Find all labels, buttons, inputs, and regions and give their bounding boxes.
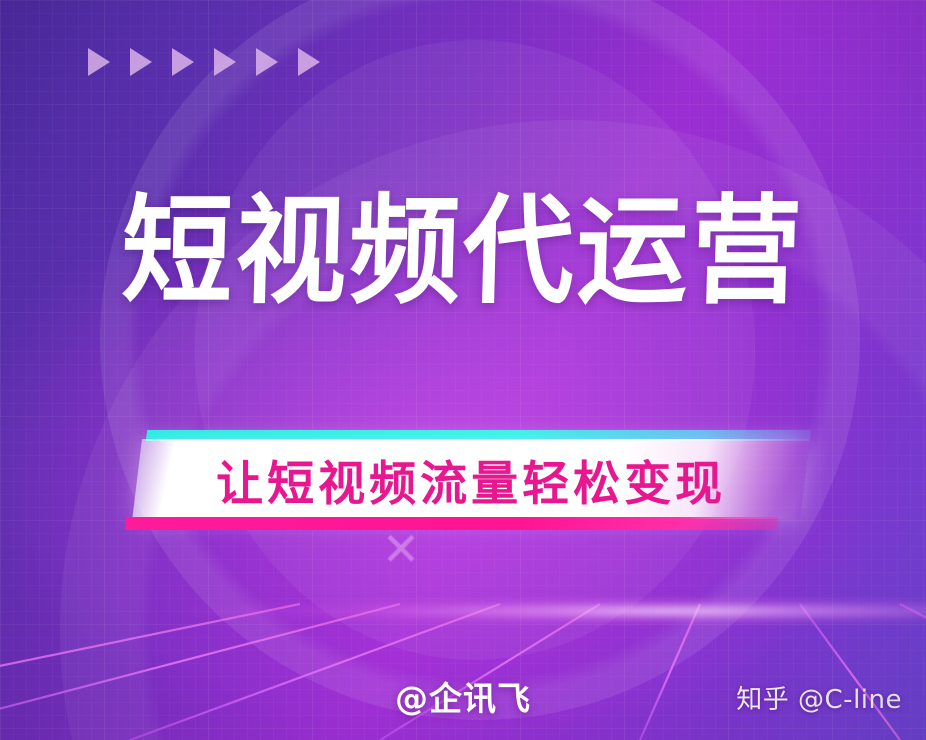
poster-canvas: 短视频代运营 让短视频流量轻松变现 ✕ xyxy=(0,0,926,740)
play-arrow-icon xyxy=(172,48,194,76)
vignette-overlay xyxy=(0,0,926,740)
inner-ellipse-decoration xyxy=(195,40,755,660)
play-arrow-icon xyxy=(298,48,320,76)
main-title: 短视频代运营 xyxy=(26,192,899,310)
zhihu-watermark: 知乎 @C-line xyxy=(736,679,902,716)
x-decoration-icon: ✕ xyxy=(380,528,422,570)
subtitle-banner: 让短视频流量轻松变现 xyxy=(131,430,815,530)
play-arrow-icon xyxy=(130,48,152,76)
outer-circle-decoration xyxy=(100,0,860,720)
horizon-glow xyxy=(185,598,926,624)
play-arrow-icon xyxy=(214,48,236,76)
play-arrow-icon xyxy=(88,48,110,76)
fine-grid-texture xyxy=(0,0,926,740)
coarse-grid-texture xyxy=(0,0,926,740)
play-arrow-icon xyxy=(256,48,278,76)
subtitle-text: 让短视频流量轻松变现 xyxy=(137,439,805,519)
arrow-row xyxy=(88,48,320,76)
